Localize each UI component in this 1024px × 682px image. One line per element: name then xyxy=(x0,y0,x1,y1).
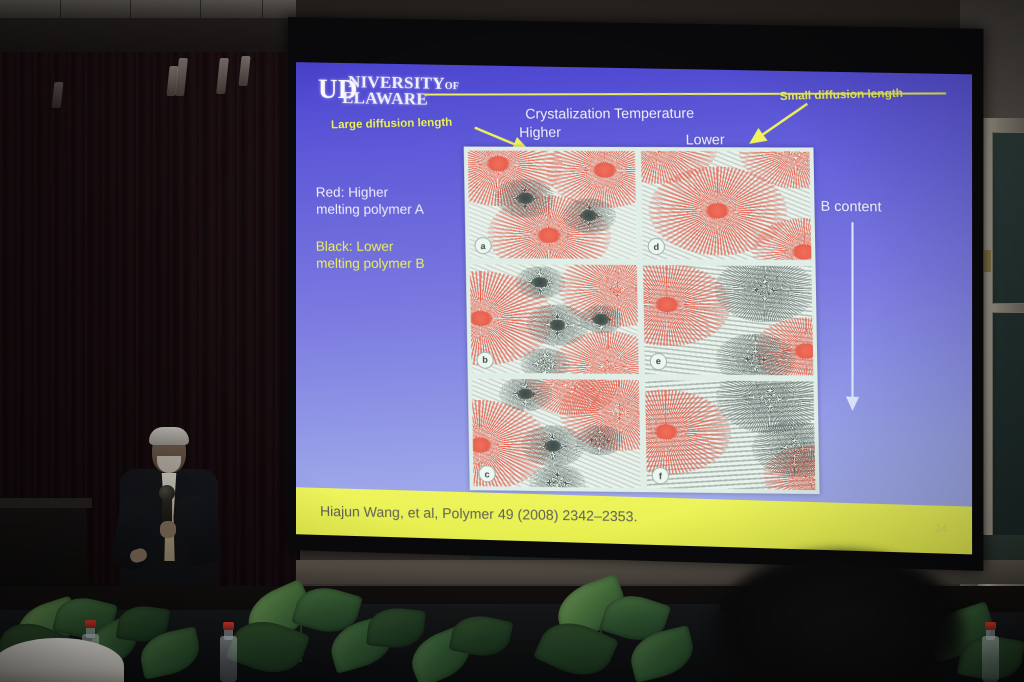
axis-label-lower: Lower xyxy=(685,131,724,147)
water-bottle-cap xyxy=(85,620,96,628)
logo-line-delaware: ELAWARE xyxy=(342,92,428,106)
water-bottle-cap xyxy=(985,622,996,630)
micrograph-panel-d: d xyxy=(641,151,811,260)
presenter-right-hand xyxy=(160,521,176,538)
micrograph-panel-a: a xyxy=(468,151,637,260)
lectern-top xyxy=(0,498,92,508)
axis-label-higher: Higher xyxy=(519,124,561,140)
legend-red-line1: Red: Higher xyxy=(316,184,424,201)
micrograph-grid: a d xyxy=(464,147,820,495)
slide-page-number: 24 xyxy=(935,523,948,536)
micrograph-panel-b: b xyxy=(470,264,639,373)
legend-black-line1: Black: Lower xyxy=(316,238,425,255)
panel-label: e xyxy=(650,353,668,370)
panel-label: f xyxy=(652,467,670,484)
microphone-head xyxy=(159,485,175,501)
legend-red-polymer-a: Red: Higher melting polymer A xyxy=(316,184,424,218)
micrograph-panel-c: c xyxy=(472,378,641,488)
door-glass-lower xyxy=(992,312,1024,564)
citation-text: Hiajun Wang, et al, Polymer 49 (2008) 23… xyxy=(320,503,638,524)
legend-red-line2: melting polymer A xyxy=(316,201,424,218)
legend-black-line2: melting polymer B xyxy=(316,255,425,272)
presenter-hair xyxy=(149,427,189,445)
axis-label-b-content: B content xyxy=(821,198,882,215)
micrograph-panel-e: e xyxy=(643,265,813,375)
door-glass-upper xyxy=(992,132,1024,304)
water-bottle xyxy=(982,636,999,682)
citation-band: Hiajun Wang, et al, Polymer 49 (2008) 23… xyxy=(296,487,972,554)
panel-label: c xyxy=(478,465,495,482)
arrow-large-diffusion xyxy=(475,128,525,149)
panel-label: b xyxy=(476,351,493,368)
legend-black-polymer-b: Black: Lower melting polymer B xyxy=(316,238,425,272)
arrow-small-diffusion xyxy=(753,103,807,143)
annotation-small-diffusion-length: Small diffusion length xyxy=(779,88,903,103)
projection-screen: UD NIVERSITYOF ELAWARE Crystalization Te… xyxy=(288,17,983,571)
lecture-hall-photo: UD NIVERSITYOF ELAWARE Crystalization Te… xyxy=(0,0,1024,682)
slide-title: Crystalization Temperature xyxy=(525,105,694,122)
presentation-slide: UD NIVERSITYOF ELAWARE Crystalization Te… xyxy=(296,62,972,554)
door-latch xyxy=(984,250,991,272)
water-bottle-cap xyxy=(223,622,234,630)
annotation-large-diffusion-length: Large diffusion length xyxy=(331,117,453,132)
micrograph-panel-f: f xyxy=(645,380,815,490)
water-bottle xyxy=(220,636,237,682)
